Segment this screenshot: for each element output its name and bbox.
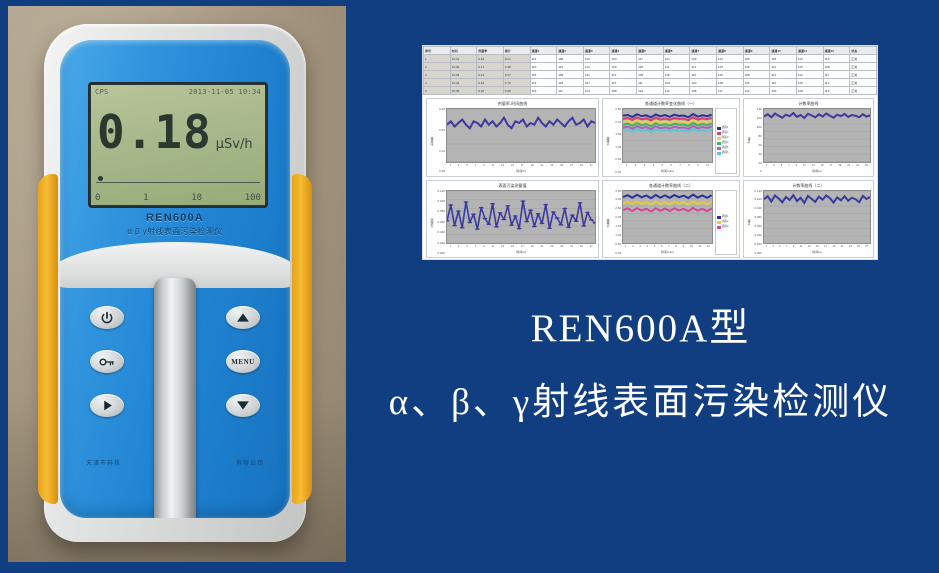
lcd-status-bar: CPS 2013-11-05 10:34 — [95, 88, 261, 96]
table-cell: 113 — [663, 87, 690, 95]
table-cell: 正常 — [850, 79, 877, 87]
table-cell: 115 — [557, 63, 584, 71]
chart-y-tick: 0.000 — [437, 252, 445, 255]
chart-y-tick: 0.080 — [754, 216, 762, 219]
table-header-cell: 通道7 — [690, 47, 717, 55]
legend-swatch — [717, 221, 721, 224]
table-cell: 113 — [583, 63, 610, 71]
legend-label: 通道2 — [722, 131, 729, 135]
chart-y-tick: 0.00 — [439, 170, 445, 173]
chart-x-axis-label: 时间(h) — [446, 169, 596, 174]
table-cell: 109 — [690, 55, 717, 63]
legend-label: 通道3 — [722, 225, 729, 229]
chart-y-tick: 0.00 — [615, 252, 621, 255]
table-cell: 0.19 — [477, 71, 504, 79]
table-cell: 0.18 — [477, 55, 504, 63]
chart-y-tick: 2.50 — [615, 207, 621, 210]
chart-plot-area — [763, 108, 871, 163]
legend-item: 通道1 — [717, 126, 735, 130]
chart-surface-contamination: 表面污染测量值污染值0.1200.1000.0800.0600.0400.020… — [426, 180, 599, 259]
table-cell: 118 — [743, 63, 770, 71]
table-cell: 113 — [530, 79, 557, 87]
chart-x-axis-label: 时间(s) — [763, 250, 871, 255]
chart-body: 计数0.1400.1200.1000.0800.0600.0400.0200.0… — [746, 190, 871, 256]
table-cell: 116 — [610, 79, 637, 87]
legend-item: 通道2 — [717, 220, 735, 224]
chart-plot-area — [446, 190, 596, 245]
chart-y-tick: 1.00 — [615, 234, 621, 237]
chart-y-axis-label: 计数 — [746, 108, 752, 174]
table-cell: 0.75 — [503, 79, 530, 87]
table-row: 510:050.200.9511911111410812211310611711… — [424, 87, 877, 95]
table-cell: 10:04 — [450, 79, 477, 87]
chart-count-rate-b: 计数率曲线（二）计数0.1400.1200.1000.0800.0600.040… — [743, 180, 874, 259]
table-cell: 正常 — [850, 63, 877, 71]
lcd-bezel: CPS 2013-11-05 10:34 0.18 μSv/h 0 1 — [88, 82, 268, 208]
table-cell: 119 — [583, 55, 610, 63]
chart-plot-area — [622, 190, 713, 245]
table-cell: 106 — [743, 55, 770, 63]
lcd-bargraph-marker — [98, 176, 103, 181]
table-header-cell: 通道3 — [583, 47, 610, 55]
data-table: 序号时间剂量率累计通道1通道2通道3通道4通道5通道6通道7通道8通道9通道10… — [423, 46, 877, 95]
table-cell: 116 — [823, 87, 850, 95]
chart-svg — [764, 109, 870, 162]
device-brand: REN600A α β γ射线表面污染检测仪 — [60, 212, 290, 237]
table-cell: 114 — [770, 71, 797, 79]
table-cell: 109 — [610, 63, 637, 71]
chart-y-tick: 0.040 — [754, 234, 762, 237]
legend-label: 通道5 — [722, 146, 729, 150]
chart-multichannel-band: 各通道计数率曲线（二）计数率3.503.002.502.001.501.000.… — [602, 180, 740, 259]
table-header-cell: 通道11 — [796, 47, 823, 55]
table-cell: 117 — [717, 87, 744, 95]
table-cell: 112 — [743, 87, 770, 95]
table-cell: 5 — [424, 87, 451, 95]
chart-y-tick: 2.00 — [615, 216, 621, 219]
table-cell: 正常 — [850, 87, 877, 95]
table-header-row: 序号时间剂量率累计通道1通道2通道3通道4通道5通道6通道7通道8通道9通道10… — [424, 47, 877, 55]
legend-item: 通道2 — [717, 131, 735, 135]
chart-plot-wrap: 123456789101112时间(min) — [622, 190, 713, 256]
table-cell: 113 — [610, 71, 637, 79]
chart-y-tick: 1.00 — [615, 146, 621, 149]
table-cell: 116 — [530, 71, 557, 79]
table-cell: 108 — [610, 87, 637, 95]
table-row: 110:010.180.2111210811910411712110911310… — [424, 55, 877, 63]
table-cell: 122 — [637, 87, 664, 95]
chart-x-axis-label: 时间(min) — [622, 250, 713, 255]
chart-title: 各通道计数率变化曲线（一） — [605, 101, 737, 108]
table-cell: 111 — [557, 87, 584, 95]
device-subtitle-text: α β γ射线表面污染检测仪 — [60, 226, 290, 237]
chart-multichannel-counts: 各通道计数率变化曲线（一）计数率2.502.001.501.000.500.00… — [602, 98, 740, 177]
chart-plot-wrap: 12345678910时间(min) — [622, 108, 713, 174]
chart-y-tick: 0.020 — [437, 242, 445, 245]
chart-y-tick: 3.00 — [615, 198, 621, 201]
chart-title: 表面污染测量值 — [429, 183, 596, 190]
table-cell: 113 — [717, 55, 744, 63]
chart-legend: 通道1通道2通道3通道4通道5通道6 — [715, 108, 737, 174]
table-cell: 0.95 — [503, 87, 530, 95]
chart-y-axis-label: 剂量率 — [429, 108, 435, 174]
lcd-scale-tick: 100 — [245, 193, 261, 203]
table-cell: 111 — [637, 79, 664, 87]
chart-dose-rate-trend: 剂量率-时间曲线剂量率0.300.200.100.001357911131517… — [426, 98, 599, 177]
lcd-scale-tick: 1 — [143, 193, 148, 203]
caption-block: REN600A型 α、β、γ射线表面污染检测仪 — [348, 300, 933, 434]
table-cell: 1 — [424, 55, 451, 63]
chart-x-axis-label: 时间(h) — [446, 250, 596, 255]
table-cell: 108 — [557, 55, 584, 63]
caption-description: α、β、γ射线表面污染检测仪 — [348, 372, 933, 434]
legend-label: 通道4 — [722, 141, 729, 145]
chart-y-tick: 3.50 — [615, 190, 621, 193]
lcd-unit: μSv/h — [216, 137, 253, 152]
table-cell: 0.18 — [477, 79, 504, 87]
table-cell: 2 — [424, 63, 451, 71]
device-handle — [154, 278, 196, 518]
up-button[interactable] — [226, 306, 260, 329]
table-cell: 10:05 — [450, 87, 477, 95]
chart-plot-area — [763, 190, 871, 245]
chart-y-tick: 1.50 — [615, 225, 621, 228]
chart-body: 计数率3.503.002.502.001.501.000.500.0012345… — [605, 190, 737, 256]
bumper-right — [292, 174, 312, 504]
chart-y-axis-label: 计数率 — [605, 108, 611, 174]
chart-y-tick: 0.10 — [439, 150, 445, 153]
chart-y-tick: 100 — [757, 126, 762, 129]
table-cell: 106 — [690, 87, 717, 95]
table-header-cell: 通道2 — [557, 47, 584, 55]
software-screenshot: 序号时间剂量率累计通道1通道2通道3通道4通道5通道6通道7通道8通道9通道10… — [422, 45, 878, 260]
chart-y-tick: 0.060 — [754, 225, 762, 228]
chart-y-ticks: 140120100806040200 — [752, 108, 763, 174]
chart-y-tick: 0.020 — [754, 243, 762, 246]
table-header-cell: 通道10 — [770, 47, 797, 55]
lcd-screen: CPS 2013-11-05 10:34 0.18 μSv/h 0 1 — [91, 85, 265, 205]
table-cell: 0.20 — [477, 87, 504, 95]
manufacturer-right: 有限公司 — [236, 458, 264, 467]
chart-y-tick: 0.100 — [754, 207, 762, 210]
table-row: 310:030.190.5711610912111310511811011910… — [424, 71, 877, 79]
chart-y-tick: 0.080 — [437, 210, 445, 213]
table-cell: 118 — [770, 55, 797, 63]
lcd-status-right: 2013-11-05 10:34 — [189, 88, 261, 96]
table-header-cell: 通道6 — [663, 47, 690, 55]
chart-y-tick: 0.060 — [437, 221, 445, 224]
table-cell: 正常 — [850, 71, 877, 79]
chart-y-tick: 0.120 — [754, 198, 762, 201]
legend-swatch — [717, 152, 721, 155]
chart-title: 计数率曲线（二） — [746, 183, 871, 190]
table-cell: 118 — [663, 71, 690, 79]
chart-y-tick: 80 — [758, 135, 761, 138]
chart-y-tick: 1.50 — [615, 133, 621, 136]
chart-y-tick: 0.30 — [439, 108, 445, 111]
menu-button-label: MENU — [231, 358, 254, 366]
table-cell: 3 — [424, 71, 451, 79]
table-cell: 109 — [663, 79, 690, 87]
legend-label: 通道6 — [722, 151, 729, 155]
chart-svg — [623, 109, 712, 162]
table-cell: 121 — [583, 71, 610, 79]
chart-plot-wrap: 135791113151719212325272931时间(h) — [446, 190, 596, 256]
chart-y-axis-label: 计数率 — [605, 190, 611, 256]
chart-title: 各通道计数率曲线（二） — [605, 183, 737, 190]
lcd-scale-tick: 10 — [191, 193, 202, 203]
lcd-value: 0.18 — [97, 109, 212, 155]
table-cell: 108 — [823, 63, 850, 71]
chart-y-tick: 0.50 — [615, 158, 621, 161]
chart-plot-wrap: 135791113151719212325272931时间(h) — [446, 108, 596, 174]
chart-y-tick: 140 — [757, 108, 762, 111]
device-model-text: REN600A — [60, 212, 290, 224]
table-header-cell: 通道1 — [530, 47, 557, 55]
chart-body: 计数率2.502.001.501.000.500.0012345678910时间… — [605, 108, 737, 174]
table-cell: 105 — [717, 79, 744, 87]
legend-swatch — [717, 132, 721, 135]
table-cell: 109 — [796, 87, 823, 95]
legend-label: 通道2 — [722, 220, 729, 224]
device-front-panel: CPS 2013-11-05 10:34 0.18 μSv/h 0 1 — [60, 40, 290, 518]
table-cell: 110 — [770, 79, 797, 87]
table-cell: 120 — [690, 79, 717, 87]
table-cell: 115 — [743, 79, 770, 87]
chart-y-tick: 0.120 — [437, 190, 445, 193]
table-cell: 正常 — [850, 55, 877, 63]
table-cell: 112 — [770, 63, 797, 71]
table-cell: 0.17 — [477, 63, 504, 71]
table-header-cell: 通道4 — [610, 47, 637, 55]
chart-plot-wrap: 135791113151719212325时间(s) — [763, 108, 871, 174]
table-cell: 119 — [530, 87, 557, 95]
bumper-left — [38, 174, 58, 504]
table-header-cell: 通道9 — [743, 47, 770, 55]
table-cell: 0.21 — [503, 55, 530, 63]
legend-label: 通道1 — [722, 215, 729, 219]
chart-y-tick: 2.00 — [615, 121, 621, 124]
table-cell: 120 — [637, 63, 664, 71]
menu-button[interactable]: MENU — [226, 350, 260, 373]
legend-swatch — [717, 137, 721, 140]
legend-item: 通道5 — [717, 146, 735, 150]
chart-y-tick: 0.00 — [615, 171, 621, 174]
slide-root: CPS 2013-11-05 10:34 0.18 μSv/h 0 1 — [0, 0, 939, 573]
chart-y-tick: 0.100 — [437, 200, 445, 203]
table-cell: 104 — [610, 55, 637, 63]
chart-y-tick: 2.50 — [615, 108, 621, 111]
chart-y-axis-label: 计数 — [746, 190, 752, 256]
play-icon — [101, 399, 114, 412]
manufacturer-left: 天津市科技 — [86, 458, 121, 467]
key-icon — [99, 356, 115, 368]
chart-svg — [447, 191, 595, 244]
chart-x-axis-label: 时间(s) — [763, 169, 871, 174]
table-cell: 110 — [530, 63, 557, 71]
chart-plot-wrap: 13579111315171921232527时间(s) — [763, 190, 871, 256]
table-cell: 109 — [557, 71, 584, 79]
chart-svg — [447, 109, 595, 162]
table-cell: 115 — [823, 55, 850, 63]
table-header-cell: 通道5 — [637, 47, 664, 55]
table-header-cell: 通道8 — [717, 47, 744, 55]
table-cell: 114 — [690, 63, 717, 71]
table-cell: 110 — [690, 71, 717, 79]
table-cell: 112 — [796, 71, 823, 79]
table-header-cell: 序号 — [424, 47, 451, 55]
table-cell: 110 — [796, 55, 823, 63]
power-icon — [100, 311, 114, 325]
table-cell: 114 — [583, 87, 610, 95]
chart-y-ticks: 0.1400.1200.1000.0800.0600.0400.0200.000 — [752, 190, 763, 256]
chart-y-tick: 60 — [758, 144, 761, 147]
product-photo: CPS 2013-11-05 10:34 0.18 μSv/h 0 1 — [8, 6, 346, 562]
caption-model: REN600A型 — [348, 300, 933, 358]
chart-plot-area — [446, 108, 596, 163]
chart-y-tick: 0.000 — [754, 252, 762, 255]
triangle-up-icon — [236, 312, 250, 323]
chart-svg — [764, 191, 870, 244]
chart-y-axis-label: 污染值 — [429, 190, 435, 256]
chart-plot-area — [622, 108, 713, 163]
chart-y-tick: 0.50 — [615, 243, 621, 246]
down-button[interactable] — [226, 394, 260, 417]
legend-swatch — [717, 226, 721, 229]
legend-swatch — [717, 147, 721, 150]
table-cell: 120 — [770, 87, 797, 95]
legend-swatch — [717, 127, 721, 130]
chart-y-tick: 120 — [757, 117, 762, 120]
table-cell: 108 — [743, 71, 770, 79]
legend-item: 通道3 — [717, 136, 735, 140]
chart-y-ticks: 3.503.002.502.001.501.000.500.00 — [611, 190, 622, 256]
chart-legend: 通道1通道2通道3 — [715, 190, 737, 256]
table-cell: 107 — [717, 63, 744, 71]
table-cell: 113 — [823, 79, 850, 87]
lcd-status-left: CPS — [95, 88, 109, 96]
table-cell: 119 — [717, 71, 744, 79]
legend-item: 通道3 — [717, 225, 735, 229]
table-header-cell: 时间 — [450, 47, 477, 55]
chart-count-rate-a: 计数率曲线计数140120100806040200135791113151719… — [743, 98, 874, 177]
chart-y-tick: 0.20 — [439, 129, 445, 132]
lcd-scale-tick: 0 — [95, 193, 100, 203]
chart-y-tick: 0.140 — [754, 190, 762, 193]
chart-grid: 剂量率-时间曲线剂量率0.300.200.100.001357911131517… — [423, 95, 877, 260]
table-cell: 10:01 — [450, 55, 477, 63]
table-cell: 4 — [424, 79, 451, 87]
device-body: CPS 2013-11-05 10:34 0.18 μSv/h 0 1 — [44, 24, 306, 542]
lcd-bargraph — [96, 178, 260, 183]
chart-y-tick: 40 — [758, 153, 761, 156]
table-cell: 10:03 — [450, 71, 477, 79]
legend-item: 通道1 — [717, 215, 735, 219]
legend-item: 通道4 — [717, 141, 735, 145]
table-cell: 117 — [637, 55, 664, 63]
table-row: 410:040.180.7511311810711611110912010511… — [424, 79, 877, 87]
table-cell: 111 — [663, 63, 690, 71]
table-cell: 0.57 — [503, 71, 530, 79]
table-cell: 117 — [823, 71, 850, 79]
table-header-cell: 状态 — [850, 47, 877, 55]
table-header-cell: 剂量率 — [477, 47, 504, 55]
lock-button[interactable] — [90, 350, 124, 373]
chart-title: 计数率曲线 — [746, 101, 871, 108]
table-cell: 112 — [530, 55, 557, 63]
legend-label: 通道1 — [722, 126, 729, 130]
table-row: 210:020.170.3811011511310912011111410711… — [424, 63, 877, 71]
legend-label: 通道3 — [722, 136, 729, 140]
table-cell: 119 — [796, 79, 823, 87]
chart-svg — [623, 191, 712, 244]
triangle-down-icon — [236, 400, 250, 411]
chart-body: 污染值0.1200.1000.0800.0600.0400.0200.00013… — [429, 190, 596, 256]
chart-x-axis-label: 时间(min) — [622, 169, 713, 174]
chart-y-tick: 0 — [760, 170, 762, 173]
legend-swatch — [717, 216, 721, 219]
play-button[interactable] — [90, 394, 124, 417]
table-cell: 107 — [583, 79, 610, 87]
chart-y-tick: 0.040 — [437, 231, 445, 234]
table-cell: 118 — [557, 79, 584, 87]
table-cell: 121 — [663, 55, 690, 63]
table-cell: 10:02 — [450, 63, 477, 71]
lcd-scale: 0 1 10 100 — [95, 193, 261, 203]
table-cell: 116 — [796, 63, 823, 71]
chart-y-ticks: 0.1200.1000.0800.0600.0400.0200.000 — [435, 190, 446, 256]
legend-swatch — [717, 142, 721, 145]
power-button[interactable] — [90, 306, 124, 329]
chart-y-tick: 20 — [758, 162, 761, 165]
table-header-cell: 通道12 — [823, 47, 850, 55]
chart-body: 计数14012010080604020013579111315171921232… — [746, 108, 871, 174]
legend-item: 通道6 — [717, 151, 735, 155]
chart-y-ticks: 2.502.001.501.000.500.00 — [611, 108, 622, 174]
table-cell: 105 — [637, 71, 664, 79]
table-cell: 0.38 — [503, 63, 530, 71]
chart-title: 剂量率-时间曲线 — [429, 101, 596, 108]
lcd-reading: 0.18 μSv/h — [97, 109, 253, 155]
chart-y-ticks: 0.300.200.100.00 — [435, 108, 446, 174]
chart-body: 剂量率0.300.200.100.00135791113151719212325… — [429, 108, 596, 174]
table-header-cell: 累计 — [503, 47, 530, 55]
